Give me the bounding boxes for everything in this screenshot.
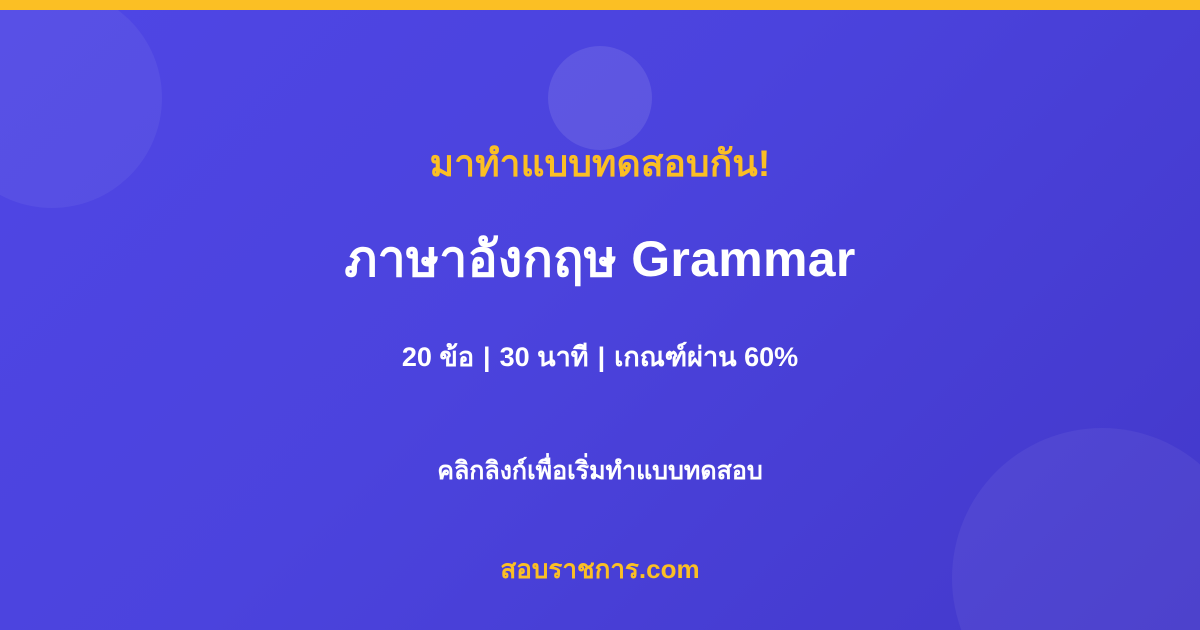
- meta-question-count: 20 ข้อ: [402, 342, 474, 372]
- brand-domain: สอบราชการ.com: [0, 553, 1200, 587]
- card-content: มาทำแบบทดสอบกัน! ภาษาอังกฤษ Grammar 20 ข…: [0, 0, 1200, 630]
- meta-duration: 30 นาที: [500, 342, 589, 372]
- cta-text: คลิกลิงก์เพื่อเริ่มทำแบบทดสอบ: [0, 455, 1200, 488]
- meta-passing-score: เกณฑ์ผ่าน 60%: [614, 342, 798, 372]
- eyebrow-headline: มาทำแบบทดสอบกัน!: [0, 142, 1200, 186]
- top-accent-bar: [0, 0, 1200, 10]
- quiz-meta-line: 20 ข้อ|30 นาที|เกณฑ์ผ่าน 60%: [0, 340, 1200, 375]
- quiz-share-card: มาทำแบบทดสอบกัน! ภาษาอังกฤษ Grammar 20 ข…: [0, 0, 1200, 630]
- meta-separator-2: |: [589, 340, 615, 375]
- meta-separator-1: |: [474, 340, 500, 375]
- quiz-title: ภาษาอังกฤษ Grammar: [0, 229, 1200, 289]
